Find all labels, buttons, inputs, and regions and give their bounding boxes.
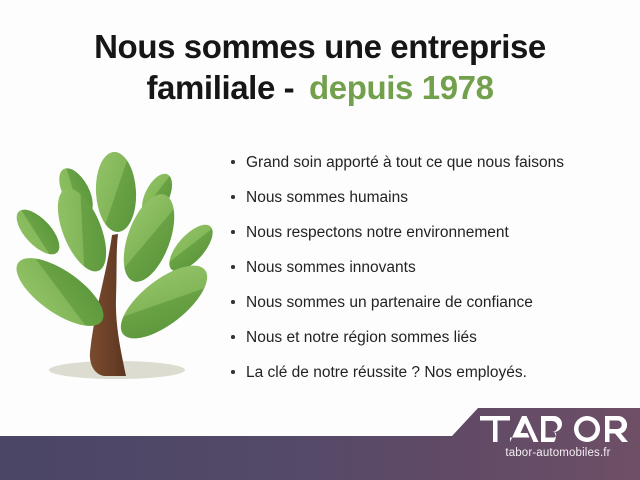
list-item-label: Nous respectons notre environnement [246, 224, 509, 241]
headline-highlight-year: depuis 1978 [309, 69, 494, 106]
tree-icon [12, 152, 218, 396]
list-item: Nous sommes innovants [228, 255, 628, 290]
bullet-dot-icon [231, 160, 235, 164]
list-item-label: Nous et notre région sommes liés [246, 329, 477, 346]
headline-line-1: Nous sommes une entreprise [0, 26, 640, 67]
bullet-dot-icon [231, 265, 235, 269]
bullet-dot-icon [231, 300, 235, 304]
bullet-dot-icon [231, 335, 235, 339]
slide-canvas: Nous sommes une entreprise familiale - d… [0, 0, 640, 480]
brand-logo[interactable]: tabor-automobiles.fr [476, 414, 640, 472]
bullet-dot-icon [231, 195, 235, 199]
tree-illustration [12, 152, 218, 396]
list-item: La clé de notre réussite ? Nos employés. [228, 360, 628, 395]
list-item: Nous sommes humains [228, 185, 628, 220]
list-item: Nous respectons notre environnement [228, 220, 628, 255]
list-item-label: Nous sommes innovants [246, 259, 416, 276]
page-title: Nous sommes une entreprise familiale - d… [0, 26, 640, 108]
list-item-label: Nous sommes humains [246, 189, 408, 206]
benefits-list: Grand soin apporté à tout ce que nous fa… [228, 150, 628, 395]
list-item-label: La clé de notre réussite ? Nos employés. [246, 364, 527, 381]
headline-line-2-prefix: familiale - [146, 69, 303, 106]
list-item-label: Grand soin apporté à tout ce que nous fa… [246, 154, 564, 171]
list-item: Nous et notre région sommes liés [228, 325, 628, 360]
list-item: Grand soin apporté à tout ce que nous fa… [228, 150, 628, 185]
bullet-dot-icon [231, 230, 235, 234]
list-item-label: Nous sommes un partenaire de confiance [246, 294, 533, 311]
logo-tagline: tabor-automobiles.fr [476, 447, 640, 459]
tabor-wordmark-icon [479, 414, 637, 444]
bullet-dot-icon [231, 370, 235, 374]
list-item: Nous sommes un partenaire de confiance [228, 290, 628, 325]
headline-line-2: familiale - depuis 1978 [0, 67, 640, 108]
tree-leaf [94, 152, 138, 233]
